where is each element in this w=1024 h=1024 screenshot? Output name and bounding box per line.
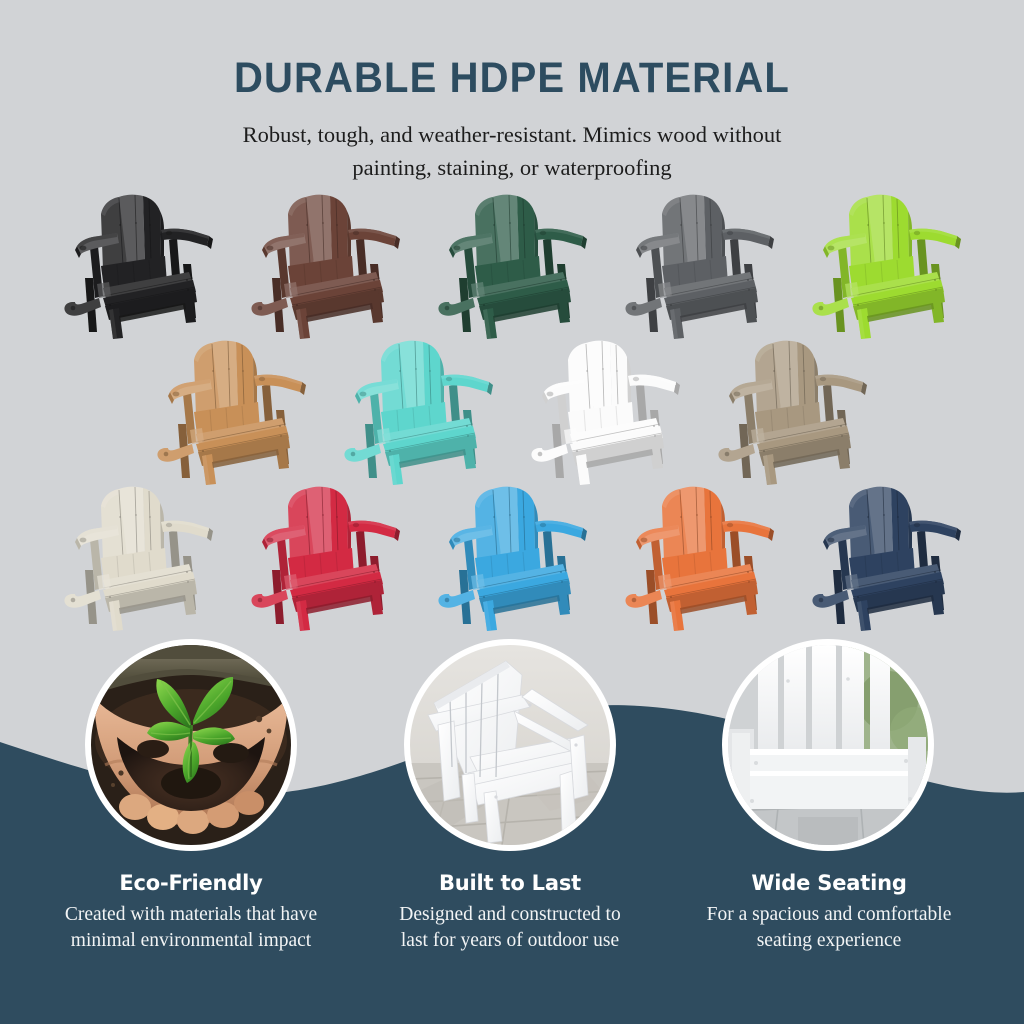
feature-caption-eco-friendly: Eco-Friendly Created with materials that… — [21, 871, 361, 954]
feature-description: Created with materials that have minimal… — [21, 902, 361, 954]
white-chair-wide-seat-icon — [728, 645, 928, 845]
chair-swatch-orange[interactable] — [618, 484, 781, 632]
feature-caption-built-to-last: Built to Last Designed and constructed t… — [340, 871, 680, 954]
white-chair-patio-icon — [410, 645, 610, 845]
feature-image-built-to-last — [404, 639, 616, 851]
subtitle-line-1: Robust, tough, and weather-resistant. Mi… — [0, 119, 1024, 152]
feature-image-wide-seating — [722, 639, 934, 851]
chair-swatch-ivory[interactable] — [57, 484, 220, 632]
chair-svg-4 — [618, 192, 781, 340]
chair-swatch-dark-green[interactable] — [431, 192, 594, 340]
chair-swatch-gray[interactable] — [618, 192, 781, 340]
header: DURABLE HDPE MATERIAL Robust, tough, and… — [0, 0, 1024, 184]
chair-swatch-teak[interactable] — [150, 338, 313, 486]
chair-swatch-crimson-red[interactable] — [244, 484, 407, 632]
chair-svg-14 — [805, 484, 968, 632]
chair-svg-1 — [57, 192, 220, 340]
feature-title: Built to Last — [340, 871, 680, 895]
chair-svg-11 — [244, 484, 407, 632]
chair-row-2 — [0, 338, 1024, 486]
chair-svg-8 — [524, 338, 687, 486]
feature-desc-line-1: Designed and constructed to — [340, 902, 680, 928]
subtitle-line-2: painting, staining, or waterproofing — [0, 152, 1024, 185]
hands-seedling-icon — [91, 645, 291, 845]
chair-svg-10 — [57, 484, 220, 632]
feature-description: Designed and constructed to last for yea… — [340, 902, 680, 954]
feature-image-eco-friendly — [85, 639, 297, 851]
chair-swatch-weathered-wood[interactable] — [711, 338, 874, 486]
feature-desc-line-1: Created with materials that have — [21, 902, 361, 928]
chair-swatch-navy-blue[interactable] — [805, 484, 968, 632]
feature-desc-line-2: last for years of outdoor use — [340, 928, 680, 954]
chair-swatch-turquoise[interactable] — [337, 338, 500, 486]
feature-desc-line-1: For a spacious and comfortable — [659, 902, 999, 928]
chair-svg-7 — [337, 338, 500, 486]
chair-row-3 — [0, 484, 1024, 632]
feature-desc-line-2: minimal environmental impact — [21, 928, 361, 954]
feature-description: For a spacious and comfortable seating e… — [659, 902, 999, 954]
chair-svg-2 — [244, 192, 407, 340]
chair-svg-12 — [431, 484, 594, 632]
chair-color-grid — [0, 192, 1024, 632]
chair-swatch-lime-green[interactable] — [805, 192, 968, 340]
chair-swatch-dark-brown[interactable] — [244, 192, 407, 340]
chair-swatch-white[interactable] — [524, 338, 687, 486]
chair-svg-13 — [618, 484, 781, 632]
chair-svg-3 — [431, 192, 594, 340]
feature-title: Wide Seating — [659, 871, 999, 895]
chair-svg-6 — [150, 338, 313, 486]
feature-title: Eco-Friendly — [21, 871, 361, 895]
chair-row-1 — [0, 192, 1024, 340]
page-subtitle: Robust, tough, and weather-resistant. Mi… — [0, 119, 1024, 184]
page-title: DURABLE HDPE MATERIAL — [36, 57, 988, 100]
chair-swatch-sky-blue[interactable] — [431, 484, 594, 632]
feature-caption-wide-seating: Wide Seating For a spacious and comforta… — [659, 871, 999, 954]
chair-swatch-black[interactable] — [57, 192, 220, 340]
feature-desc-line-2: seating experience — [659, 928, 999, 954]
chair-svg-9 — [711, 338, 874, 486]
chair-svg-5 — [805, 192, 968, 340]
